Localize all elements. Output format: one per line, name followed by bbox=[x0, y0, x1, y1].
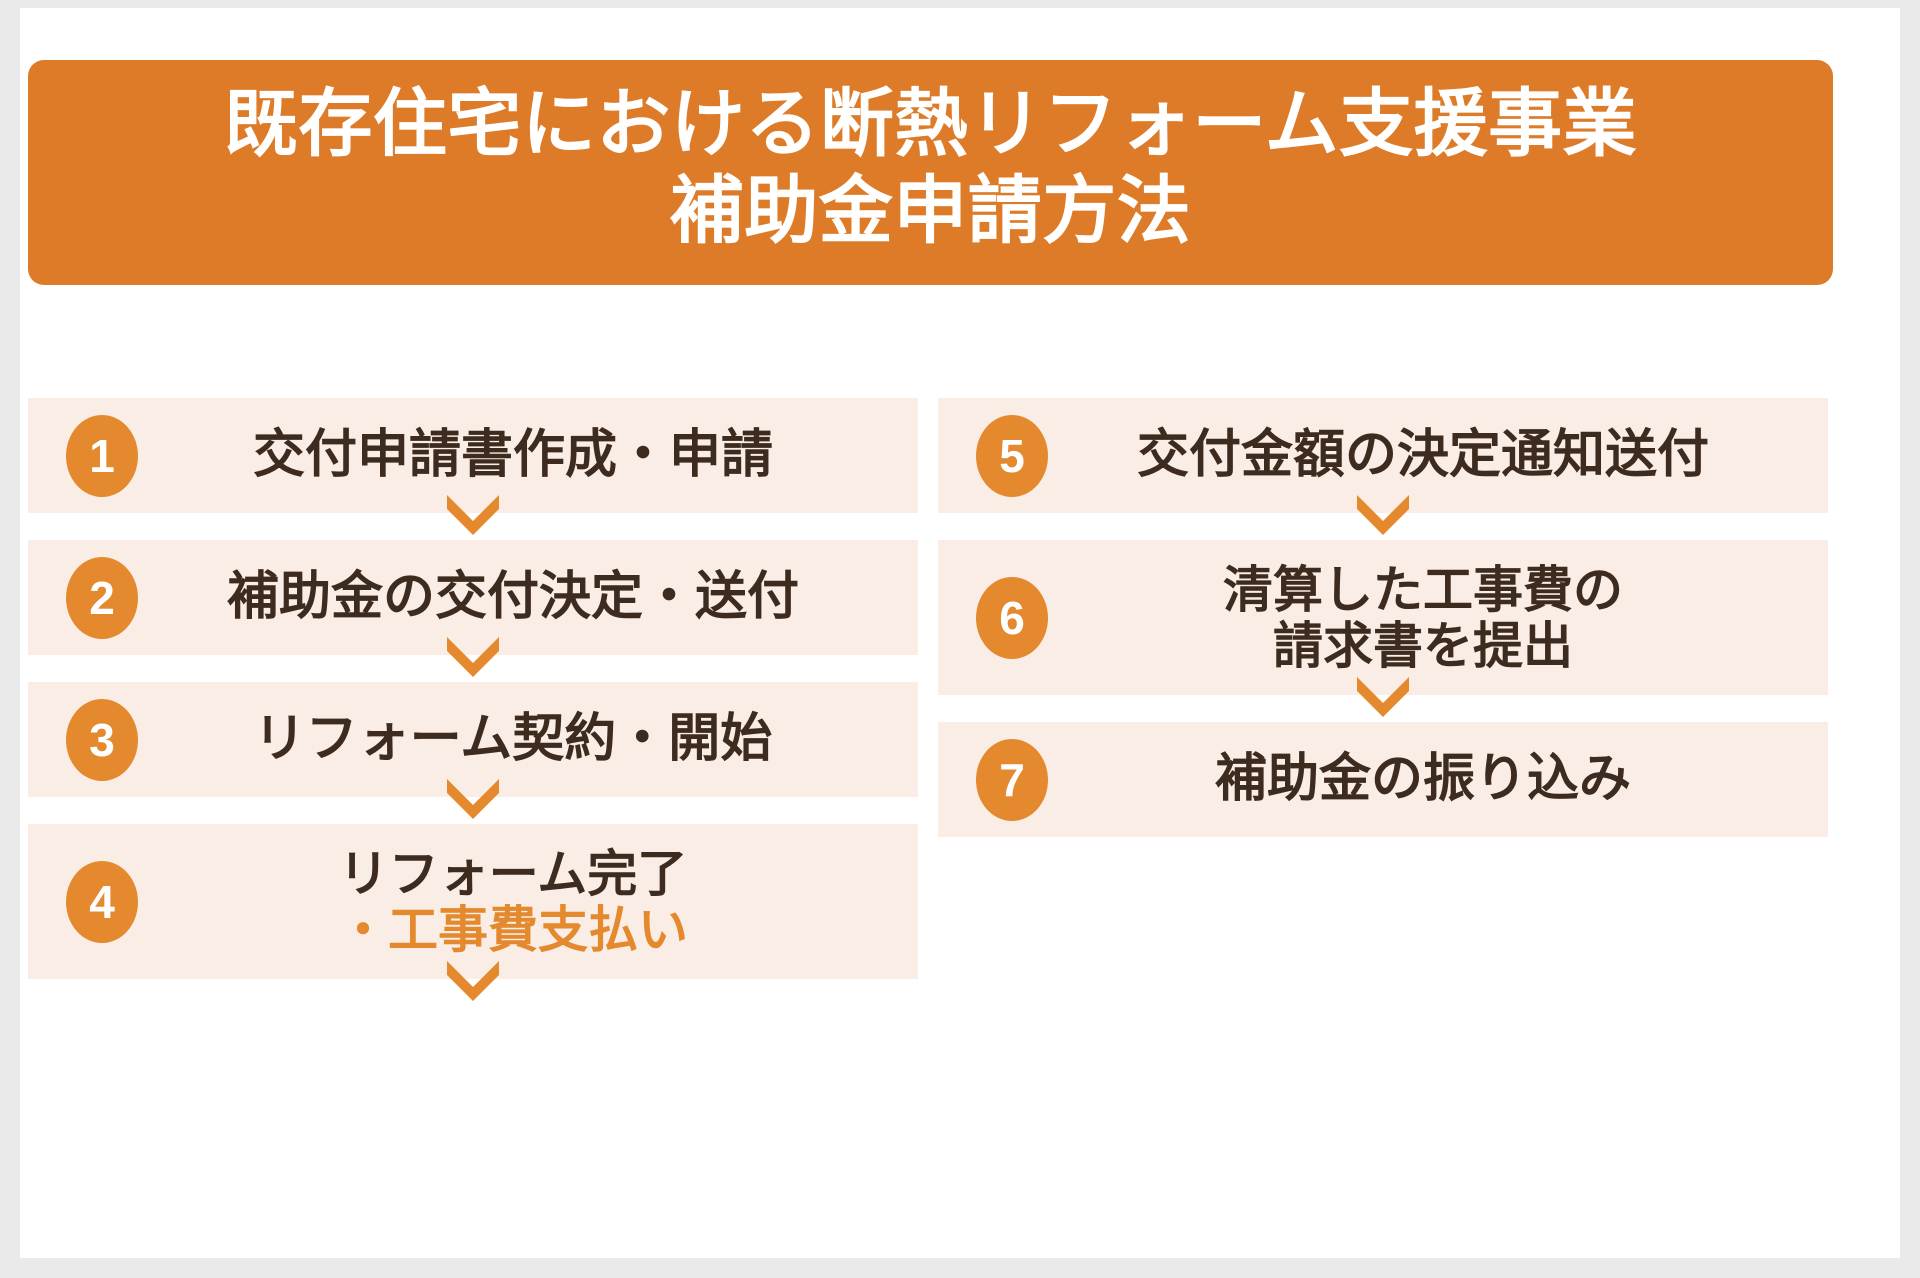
step-number-badge-6: 6 bbox=[976, 577, 1048, 659]
step-item-7: 7 補助金の振り込み bbox=[938, 722, 1828, 837]
title-line-1: 既存住宅における断熱リフォーム支援事業 bbox=[28, 80, 1833, 167]
step-item-2: 2 補助金の交付決定・送付 bbox=[28, 540, 918, 655]
step-label-7: 補助金の振り込み bbox=[1048, 748, 1828, 810]
step-number-badge-1: 1 bbox=[66, 415, 138, 497]
step-columns: 1 交付申請書作成・申請 2 補助金の交付決定・送付 3 リフォーム契約・開始 bbox=[28, 398, 1868, 979]
step-label-6: 清算した工事費の 請求書を提出 bbox=[1048, 562, 1828, 674]
step-label-3: リフォーム契約・開始 bbox=[138, 708, 918, 770]
chevron-down-icon bbox=[1353, 671, 1413, 717]
step-label-2: 補助金の交付決定・送付 bbox=[138, 566, 918, 628]
step-item-5: 5 交付金額の決定通知送付 bbox=[938, 398, 1828, 513]
right-step-column: 5 交付金額の決定通知送付 6 清算した工事費の 請求書を提出 7 補助金の振り… bbox=[938, 398, 1828, 979]
chevron-down-icon bbox=[443, 489, 503, 535]
step-label-4-line-2: ・工事費支払い bbox=[138, 902, 888, 958]
step-item-3: 3 リフォーム契約・開始 bbox=[28, 682, 918, 797]
step-number-badge-7: 7 bbox=[976, 739, 1048, 821]
step-label-5: 交付金額の決定通知送付 bbox=[1048, 424, 1828, 486]
step-label-4: リフォーム完了 ・工事費支払い bbox=[138, 846, 918, 958]
chevron-down-icon bbox=[443, 631, 503, 677]
step-item-4: 4 リフォーム完了 ・工事費支払い bbox=[28, 824, 918, 979]
page-canvas: 既存住宅における断熱リフォーム支援事業 補助金申請方法 1 交付申請書作成・申請… bbox=[20, 8, 1900, 1258]
chevron-down-icon bbox=[443, 773, 503, 819]
step-number-badge-5: 5 bbox=[976, 415, 1048, 497]
step-item-1: 1 交付申請書作成・申請 bbox=[28, 398, 918, 513]
chevron-down-icon bbox=[1353, 489, 1413, 535]
chevron-down-icon bbox=[443, 955, 503, 1001]
left-step-column: 1 交付申請書作成・申請 2 補助金の交付決定・送付 3 リフォーム契約・開始 bbox=[28, 398, 918, 979]
step-label-4-line-1: リフォーム完了 bbox=[339, 846, 688, 902]
step-label-1: 交付申請書作成・申請 bbox=[138, 424, 918, 486]
step-label-6-line-1: 清算した工事費の bbox=[1223, 562, 1623, 618]
title-line-2: 補助金申請方法 bbox=[28, 167, 1833, 254]
step-label-6-line-2: 請求書を提出 bbox=[1048, 618, 1798, 674]
step-item-6: 6 清算した工事費の 請求書を提出 bbox=[938, 540, 1828, 695]
step-number-badge-4: 4 bbox=[66, 861, 138, 943]
step-number-badge-3: 3 bbox=[66, 699, 138, 781]
title-banner: 既存住宅における断熱リフォーム支援事業 補助金申請方法 bbox=[28, 60, 1833, 285]
step-number-badge-2: 2 bbox=[66, 557, 138, 639]
